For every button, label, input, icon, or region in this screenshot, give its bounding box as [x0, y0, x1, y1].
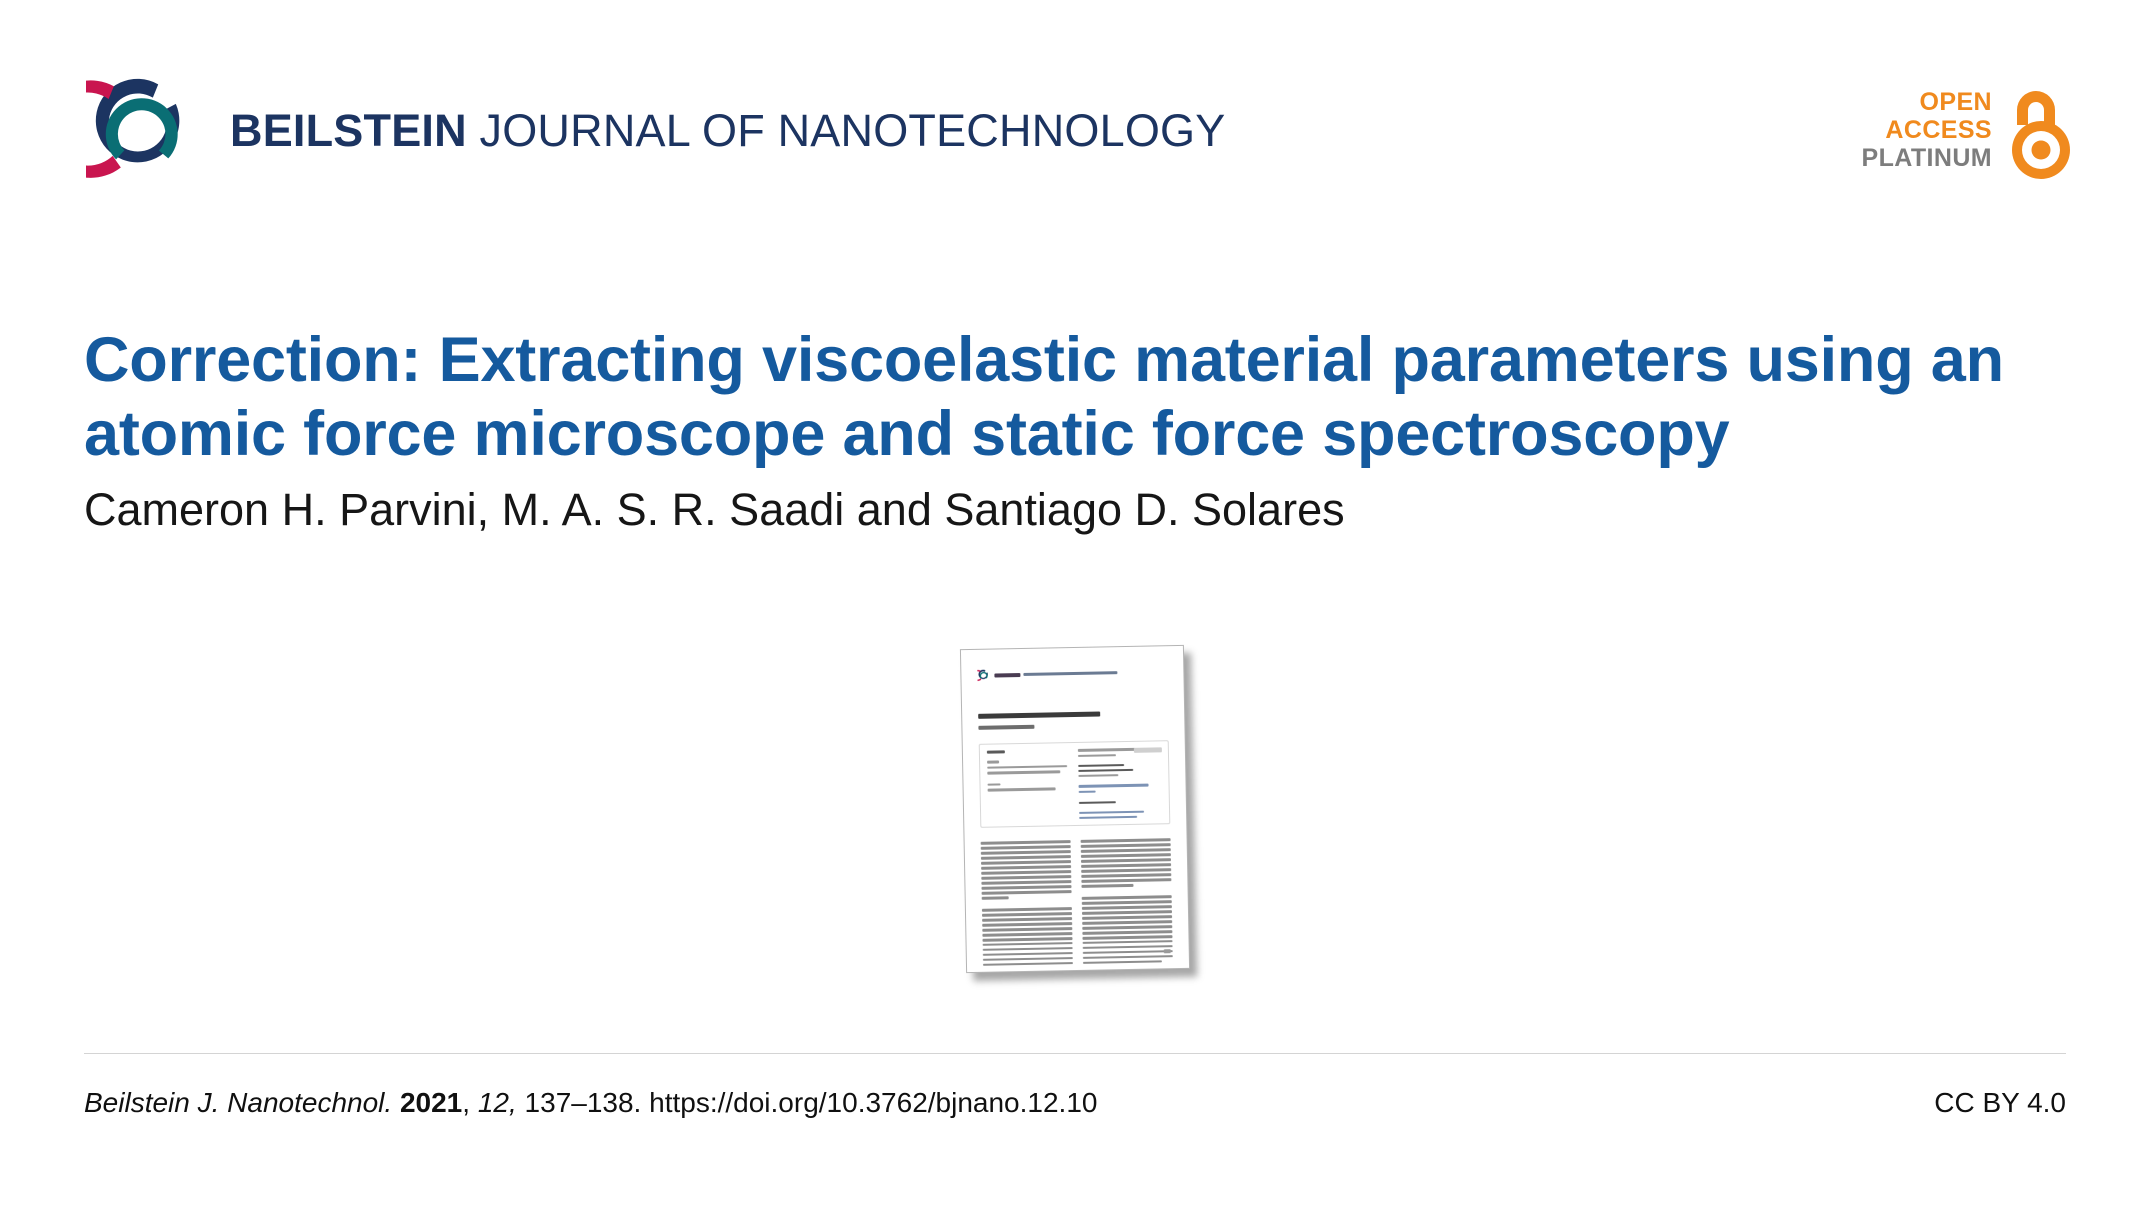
- article-authors: Cameron H. Parvini, M. A. S. R. Saadi an…: [84, 483, 2074, 537]
- open-access-line-platinum: PLATINUM: [1862, 144, 1993, 172]
- citation-year: 2021: [400, 1087, 462, 1118]
- thumbnail-page-preview: [960, 645, 1190, 973]
- brand-name-light: JOURNAL OF NANOTECHNOLOGY: [467, 105, 1226, 156]
- journal-title-text: BEILSTEIN JOURNAL OF NANOTECHNOLOGY: [230, 104, 1225, 153]
- page-header: BEILSTEIN JOURNAL OF NANOTECHNOLOGY OPEN…: [0, 0, 2150, 200]
- brand-name-bold: BEILSTEIN: [230, 105, 467, 156]
- thumb-title-line: [978, 711, 1100, 719]
- open-access-line-open: OPEN: [1920, 88, 1992, 116]
- thumb-metadata-box: [979, 741, 1171, 829]
- thumb-body-column-left: [981, 840, 1073, 966]
- open-lock-icon: [2006, 78, 2078, 182]
- open-access-badge[interactable]: OPEN ACCESS PLATINUM: [1862, 78, 2079, 182]
- footer-divider: [84, 1053, 2066, 1054]
- thumb-body-columns: [981, 839, 1173, 967]
- journal-brand[interactable]: BEILSTEIN JOURNAL OF NANOTECHNOLOGY: [86, 70, 1225, 186]
- citation-line: Beilstein J. Nanotechnol. 2021, 12, 137–…: [84, 1085, 1097, 1121]
- thumb-author-line: [978, 725, 1034, 730]
- citation-journal: Beilstein J. Nanotechnol.: [84, 1087, 392, 1118]
- citation-pages: 137–138.: [525, 1087, 642, 1118]
- license-label: CC BY 4.0: [1934, 1085, 2066, 1121]
- citation-volume: 12,: [478, 1087, 517, 1118]
- thumb-page-number: [1164, 949, 1171, 953]
- thumb-open-access-tag: [1134, 748, 1162, 754]
- citation-doi-link[interactable]: https://doi.org/10.3762/bjnano.12.10: [649, 1087, 1097, 1118]
- thumb-body-column-right: [1081, 839, 1173, 965]
- open-access-labels: OPEN ACCESS PLATINUM: [1862, 88, 1993, 173]
- beilstein-swirl-logo-icon: [86, 70, 202, 186]
- thumb-header: [977, 665, 1167, 682]
- thumb-journal-name: [994, 671, 1117, 677]
- article-title: Correction: Extracting viscoelastic mate…: [84, 324, 2074, 471]
- open-access-line-access: ACCESS: [1885, 116, 1992, 144]
- article-thumbnail[interactable]: [963, 647, 1195, 979]
- thumb-beilstein-logo-icon: [977, 669, 990, 682]
